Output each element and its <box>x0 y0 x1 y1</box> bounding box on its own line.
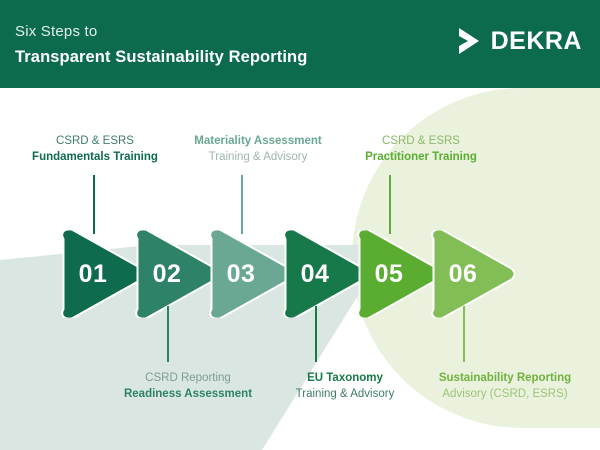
dekra-wordmark: DEKRA <box>491 29 582 54</box>
step-label-line-2: Practitioner Training <box>311 149 531 165</box>
header-title-group: Six Steps to Transparent Sustainability … <box>15 22 307 69</box>
page-title-eyebrow: Six Steps to <box>15 22 307 42</box>
header-band: Six Steps to Transparent Sustainability … <box>0 0 600 88</box>
dekra-chevron-logo-icon <box>456 26 482 56</box>
step-label-line-1: Sustainability Reporting <box>395 370 600 386</box>
step-label-06: Sustainability ReportingAdvisory (CSRD, … <box>395 370 600 402</box>
brand-logo: DEKRA <box>456 26 582 56</box>
step-connector-line <box>463 306 465 362</box>
step-marker-06[interactable]: 06 <box>427 230 517 318</box>
step-connector-line <box>93 175 95 234</box>
step-connector-line <box>167 306 169 362</box>
step-connector-line <box>389 175 391 234</box>
step-label-line-2: Advisory (CSRD, ESRS) <box>395 386 600 402</box>
step-connector-line <box>315 306 317 362</box>
infographic-canvas: Six Steps to Transparent Sustainability … <box>0 0 600 450</box>
step-label-05: CSRD & ESRSPractitioner Training <box>311 133 531 165</box>
page-title: Transparent Sustainability Reporting <box>15 45 307 69</box>
step-connector-line <box>241 175 243 234</box>
step-arrow-shape-icon <box>427 230 517 318</box>
step-label-line-1: CSRD & ESRS <box>311 133 531 149</box>
